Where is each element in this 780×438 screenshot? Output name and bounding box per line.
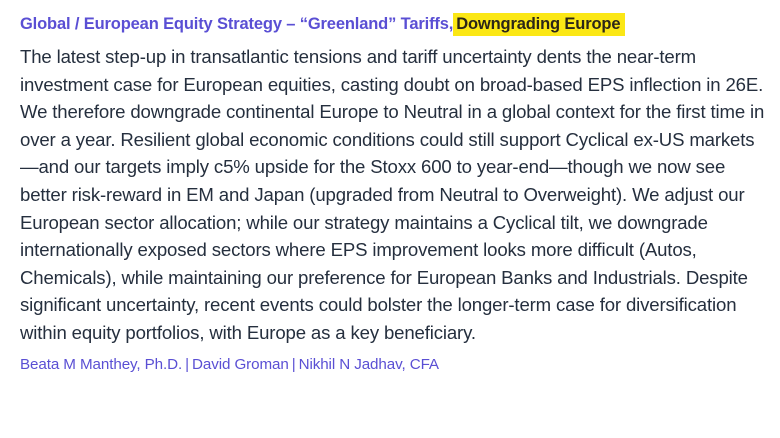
research-note-card: Global / European Equity Strategy – “Gre…: [0, 0, 780, 438]
headline-highlighted-text: Downgrading Europe: [453, 13, 625, 36]
page-title: Global / European Equity Strategy – “Gre…: [20, 12, 774, 36]
headline-plain-text: Global / European Equity Strategy – “Gre…: [20, 15, 453, 33]
byline-author-3[interactable]: Nikhil N Jadhav, CFA: [299, 356, 439, 373]
byline-author-2[interactable]: David Groman: [192, 356, 289, 373]
summary-paragraph: The latest step-up in transatlantic tens…: [20, 43, 772, 347]
byline: Beata M Manthey, Ph.D.|David Groman|Nikh…: [20, 354, 774, 376]
byline-separator-icon: |: [289, 356, 299, 373]
byline-author-1[interactable]: Beata M Manthey, Ph.D.: [20, 356, 182, 373]
byline-separator-icon: |: [182, 356, 192, 373]
